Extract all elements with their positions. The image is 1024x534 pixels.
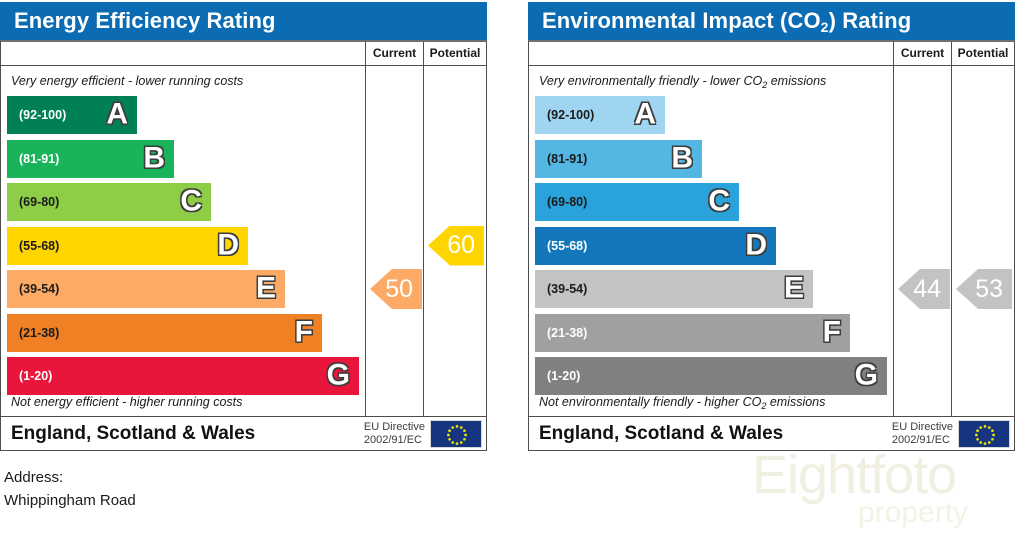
eu-directive-line-2: 2002/91/EC	[892, 434, 953, 447]
bands-area: Very energy efficient - lower running co…	[1, 66, 486, 416]
eu-flag-icon	[430, 420, 482, 448]
eu-directive-block: EU Directive2002/91/EC	[364, 420, 482, 448]
rating-band-c: (69-80)C	[535, 183, 739, 221]
band-letter-label: C	[180, 186, 202, 216]
band-range-label: (92-100)	[547, 108, 594, 122]
rating-band-d: (55-68)D	[7, 227, 248, 265]
column-header-row: CurrentPotential	[529, 42, 1014, 66]
column-divider	[893, 66, 894, 416]
watermark-sub-text: property	[858, 496, 968, 530]
eu-directive-block: EU Directive2002/91/EC	[892, 420, 1010, 448]
band-range-label: (21-38)	[547, 326, 587, 340]
eu-flag-icon	[958, 420, 1010, 448]
address-label: Address:	[4, 466, 136, 489]
rating-band-a: (92-100)A	[535, 96, 665, 134]
rating-band-e: (39-54)E	[535, 270, 813, 308]
caption-bottom: Not environmentally friendly - higher CO…	[539, 395, 825, 409]
rating-band-f: (21-38)F	[7, 314, 322, 352]
chart-footer: England, Scotland & WalesEU Directive200…	[529, 416, 1014, 450]
band-letter-label: A	[106, 99, 128, 129]
epc-chart-energy-efficiency: Energy Efficiency RatingCurrentPotential…	[0, 2, 487, 451]
chart-body-energy-efficiency: CurrentPotentialVery energy efficient - …	[0, 40, 487, 451]
column-header-spacer	[529, 42, 893, 65]
band-letter-label: G	[327, 360, 350, 390]
footer-region-label: England, Scotland & Wales	[539, 423, 783, 445]
column-header-potential: Potential	[951, 42, 1014, 65]
band-letter-label: A	[634, 99, 656, 129]
caption-top: Very energy efficient - lower running co…	[11, 74, 243, 88]
footer-region-label: England, Scotland & Wales	[11, 423, 255, 445]
chart-title-energy-efficiency: Energy Efficiency Rating	[0, 2, 487, 40]
current-rating-marker: 44	[898, 269, 950, 309]
rating-band-c: (69-80)C	[7, 183, 211, 221]
band-range-label: (39-54)	[547, 282, 587, 296]
chart-footer: England, Scotland & WalesEU Directive200…	[1, 416, 486, 450]
band-range-label: (55-68)	[19, 239, 59, 253]
rating-band-f: (21-38)F	[535, 314, 850, 352]
column-divider	[423, 66, 424, 416]
rating-band-d: (55-68)D	[535, 227, 776, 265]
band-letter-label: D	[217, 230, 239, 260]
band-range-label: (69-80)	[547, 195, 587, 209]
band-range-label: (55-68)	[547, 239, 587, 253]
band-range-label: (81-91)	[547, 152, 587, 166]
band-range-label: (1-20)	[19, 369, 52, 383]
potential-rating-marker: 53	[956, 269, 1012, 309]
eu-directive-text: EU Directive2002/91/EC	[364, 421, 425, 447]
band-letter-label: E	[256, 273, 276, 303]
band-range-label: (39-54)	[19, 282, 59, 296]
band-range-label: (92-100)	[19, 108, 66, 122]
eu-directive-line-1: EU Directive	[892, 421, 953, 434]
band-range-label: (21-38)	[19, 326, 59, 340]
epc-chart-environmental-impact: Environmental Impact (CO2) RatingCurrent…	[528, 2, 1015, 451]
column-header-spacer	[1, 42, 365, 65]
band-letter-label: C	[708, 186, 730, 216]
rating-band-g: (1-20)G	[535, 357, 887, 395]
rating-band-b: (81-91)B	[7, 140, 174, 178]
column-divider	[365, 66, 366, 416]
watermark: Eightfoto property	[752, 444, 1024, 534]
column-header-current: Current	[365, 42, 423, 65]
rating-band-a: (92-100)A	[7, 96, 137, 134]
column-divider	[951, 66, 952, 416]
column-header-current: Current	[893, 42, 951, 65]
current-rating-marker: 50	[370, 269, 422, 309]
band-letter-label: E	[784, 273, 804, 303]
band-letter-label: F	[295, 317, 313, 347]
band-letter-label: B	[671, 143, 693, 173]
address-line-1: Whippingham Road	[4, 489, 136, 512]
watermark-main-text: Eightfoto	[752, 444, 956, 506]
eu-directive-text: EU Directive2002/91/EC	[892, 421, 953, 447]
chart-body-environmental-impact: CurrentPotentialVery environmentally fri…	[528, 40, 1015, 451]
rating-band-b: (81-91)B	[535, 140, 702, 178]
rating-band-e: (39-54)E	[7, 270, 285, 308]
eu-directive-line-2: 2002/91/EC	[364, 434, 425, 447]
column-header-row: CurrentPotential	[1, 42, 486, 66]
eu-directive-line-1: EU Directive	[364, 421, 425, 434]
band-letter-label: D	[745, 230, 767, 260]
caption-top: Very environmentally friendly - lower CO…	[539, 74, 826, 88]
band-letter-label: F	[823, 317, 841, 347]
address-block: Address: Whippingham Road	[4, 466, 136, 512]
chart-title-environmental-impact: Environmental Impact (CO2) Rating	[528, 2, 1015, 40]
caption-bottom: Not energy efficient - higher running co…	[11, 395, 242, 409]
band-letter-label: G	[855, 360, 878, 390]
potential-rating-marker: 60	[428, 226, 484, 266]
band-range-label: (81-91)	[19, 152, 59, 166]
band-range-label: (69-80)	[19, 195, 59, 209]
column-header-potential: Potential	[423, 42, 486, 65]
band-letter-label: B	[143, 143, 165, 173]
band-range-label: (1-20)	[547, 369, 580, 383]
bands-area: Very environmentally friendly - lower CO…	[529, 66, 1014, 416]
rating-band-g: (1-20)G	[7, 357, 359, 395]
